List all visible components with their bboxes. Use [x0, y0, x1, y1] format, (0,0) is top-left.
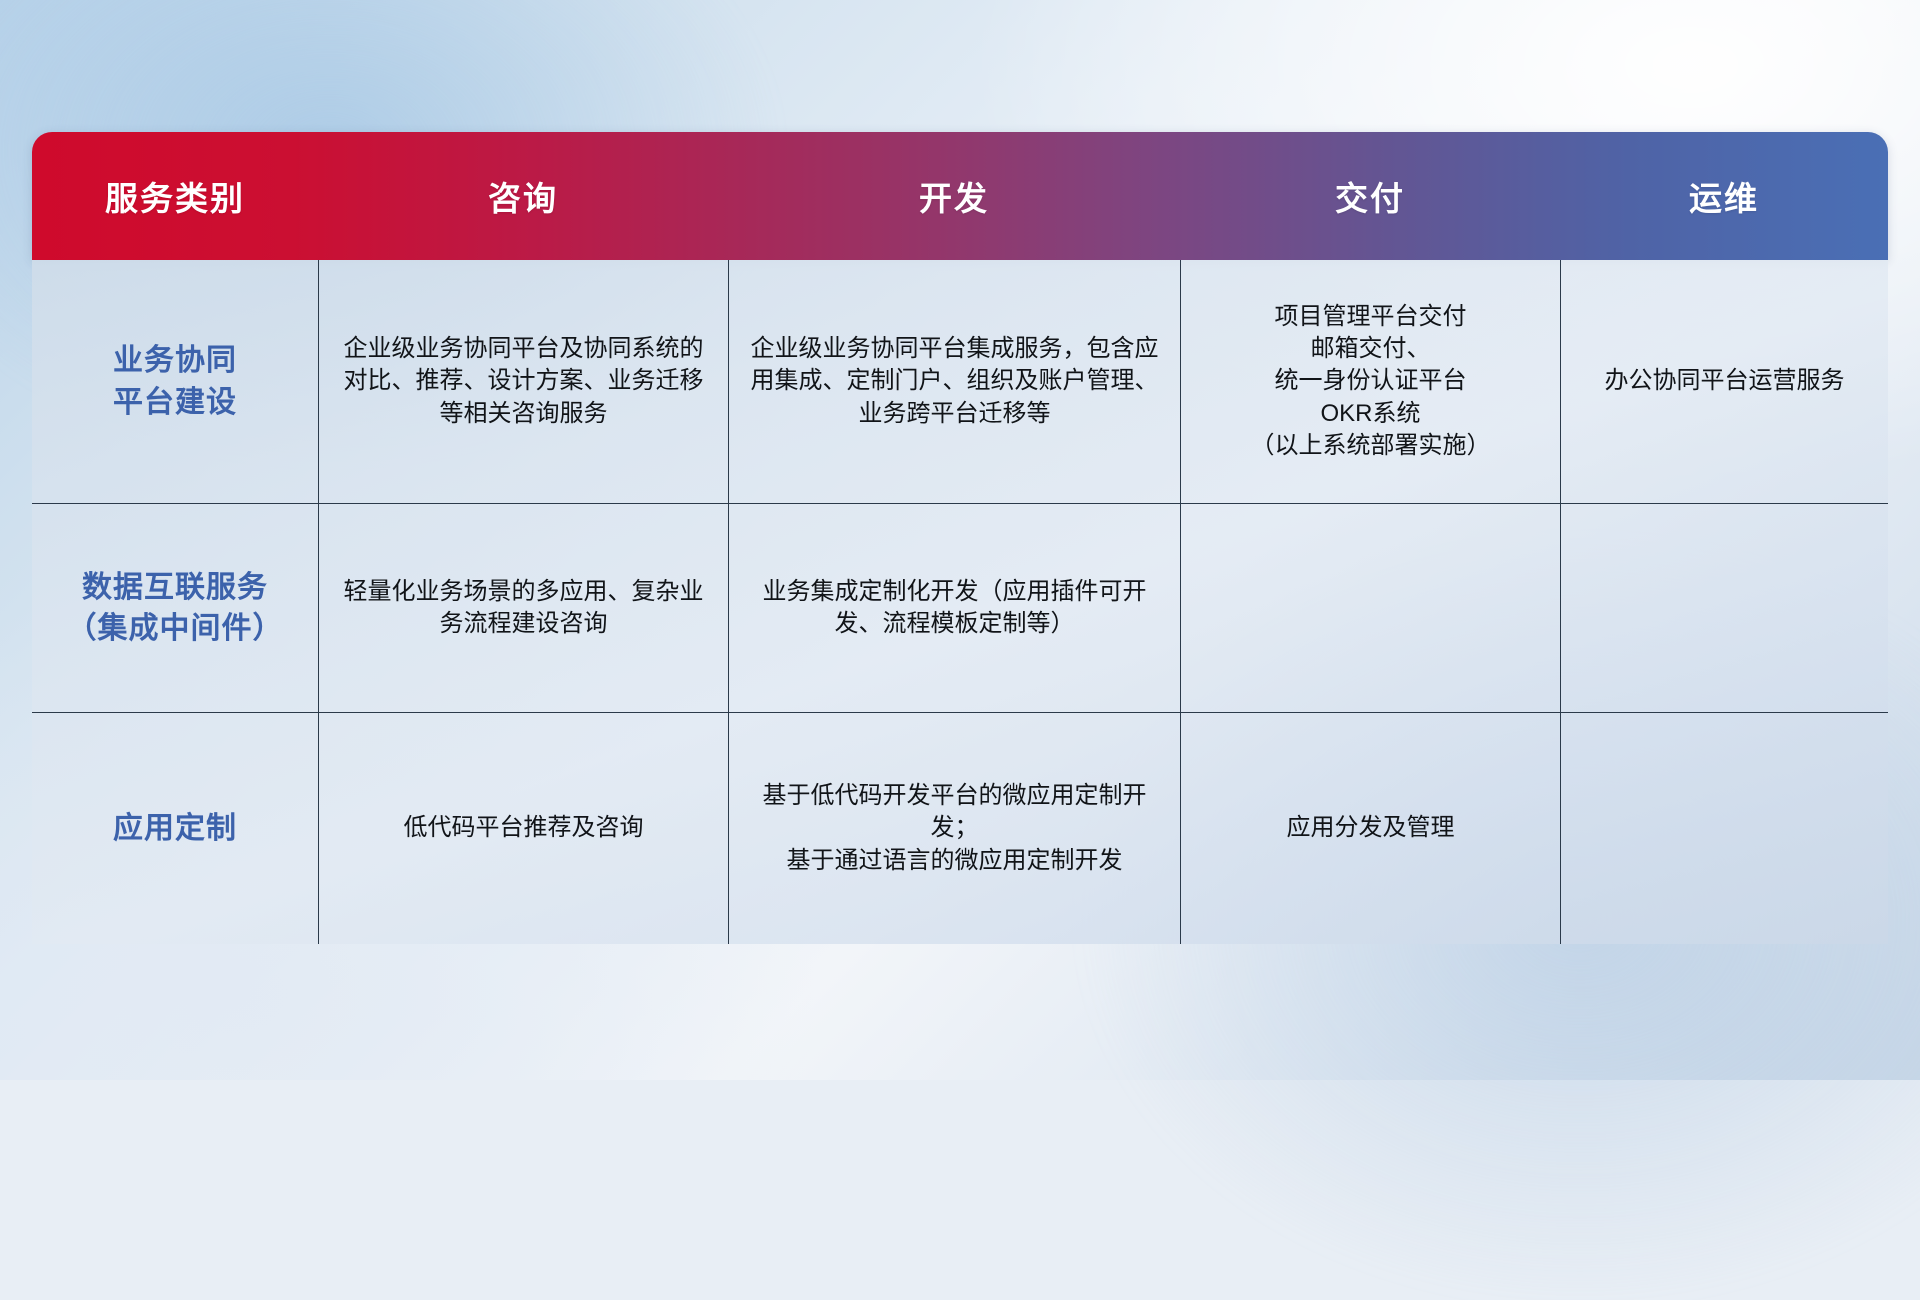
cell-delivery	[1180, 504, 1560, 712]
column-header-delivery: 交付	[1180, 132, 1560, 260]
row-category-label: 业务协同 平台建设	[32, 260, 318, 503]
cell-development: 基于低代码开发平台的微应用定制开发； 基于通过语言的微应用定制开发	[728, 713, 1180, 944]
column-header-category: 服务类别	[32, 132, 318, 260]
cell-consulting: 企业级业务协同平台及协同系统的对比、推荐、设计方案、业务迁移等相关咨询服务	[318, 260, 728, 503]
column-header-development: 开发	[728, 132, 1180, 260]
cell-consulting: 轻量化业务场景的多应用、复杂业务流程建设咨询	[318, 504, 728, 712]
cell-consulting: 低代码平台推荐及咨询	[318, 713, 728, 944]
cell-development: 业务集成定制化开发（应用插件可开发、流程模板定制等）	[728, 504, 1180, 712]
table-row: 数据互联服务 （集成中间件） 轻量化业务场景的多应用、复杂业务流程建设咨询 业务…	[32, 503, 1888, 712]
cell-delivery: 应用分发及管理	[1180, 713, 1560, 944]
row-category-label: 应用定制	[32, 713, 318, 944]
row-category-label: 数据互联服务 （集成中间件）	[32, 504, 318, 712]
slide-canvas: 服务类别 咨询 开发 交付 运维 业务协同 平台建设 企业级业务协同平台及协同系…	[0, 0, 1920, 1080]
table-row: 业务协同 平台建设 企业级业务协同平台及协同系统的对比、推荐、设计方案、业务迁移…	[32, 260, 1888, 503]
table-header-row: 服务类别 咨询 开发 交付 运维	[32, 132, 1888, 260]
column-header-consulting: 咨询	[318, 132, 728, 260]
table-body: 业务协同 平台建设 企业级业务协同平台及协同系统的对比、推荐、设计方案、业务迁移…	[32, 260, 1888, 944]
cell-delivery: 项目管理平台交付 邮箱交付、 统一身份认证平台 OKR系统 （以上系统部署实施）	[1180, 260, 1560, 503]
cell-operations: 办公协同平台运营服务	[1560, 260, 1888, 503]
cell-operations	[1560, 713, 1888, 944]
service-matrix-table: 服务类别 咨询 开发 交付 运维 业务协同 平台建设 企业级业务协同平台及协同系…	[32, 132, 1888, 944]
cell-operations	[1560, 504, 1888, 712]
column-header-operations: 运维	[1560, 132, 1888, 260]
cell-development: 企业级业务协同平台集成服务，包含应用集成、定制门户、组织及账户管理、业务跨平台迁…	[728, 260, 1180, 503]
table-row: 应用定制 低代码平台推荐及咨询 基于低代码开发平台的微应用定制开发； 基于通过语…	[32, 712, 1888, 944]
